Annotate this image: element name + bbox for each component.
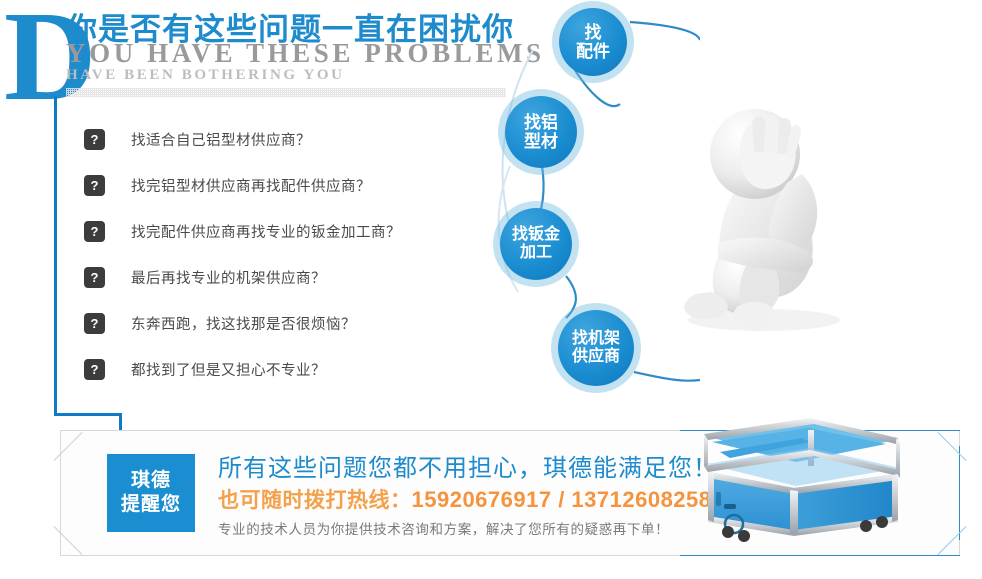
flow-node-line: 找 [585, 23, 602, 42]
drop-cap-stem [54, 96, 57, 416]
flow-node-find-aluminum-profile[interactable]: 找铝 型材 [505, 96, 577, 168]
list-item-label: 最后再找专业的机架供应商？ [131, 267, 326, 288]
cta-hotline: 也可随时拨打热线：15920676917 / 13712608258 [218, 484, 712, 514]
flow-node-line: 加工 [520, 244, 552, 262]
flow-node-find-parts[interactable]: 找 配件 [559, 8, 627, 76]
header-texture-rule [66, 88, 506, 97]
list-item: ? 找完配件供应商再找专业的钣金加工商？ [84, 220, 401, 242]
question-mark-icon: ? [84, 313, 105, 334]
flow-node-line: 找机架 [572, 330, 620, 348]
cta-subtext: 专业的技术人员为你提供技术咨询和方案，解决了您所有的疑惑再下单！ [218, 518, 669, 538]
question-mark-icon: ? [84, 221, 105, 242]
flow-node-line: 找铝 [524, 113, 558, 132]
list-item-label: 找适合自己铝型材供应商？ [131, 129, 311, 150]
list-item-label: 东奔西跑，找这找那是否很烦恼？ [131, 313, 356, 334]
list-item: ? 找适合自己铝型材供应商？ [84, 128, 401, 150]
question-mark-icon: ? [84, 359, 105, 380]
brand-badge-line2: 提醒您 [121, 493, 181, 517]
list-item: ? 都找到了但是又担心不专业？ [84, 358, 401, 380]
list-item: ? 最后再找专业的机架供应商？ [84, 266, 401, 288]
promo-banner-page: D 你是否有这些问题一直在困扰你 YOU HAVE THESE PROBLEMS… [0, 0, 982, 579]
page-title-en-line2: HAVE BEEN BOTHERING YOU [66, 67, 345, 84]
cta-headline: 所有这些问题您都不用担心，琪德能满足您！ [218, 448, 718, 483]
cta-hotline-label: 也可随时拨打热线： [218, 489, 412, 512]
cta-hotline-numbers[interactable]: 15920676917 / 13712608258 [412, 487, 712, 512]
flow-node-line: 型材 [524, 132, 558, 151]
flow-node-find-rack-supplier[interactable]: 找机架 供应商 [558, 310, 634, 386]
list-item-label: 都找到了但是又担心不专业？ [131, 359, 326, 380]
list-item-label: 找完配件供应商再找专业的钣金加工商？ [131, 221, 401, 242]
question-mark-icon: ? [84, 129, 105, 150]
question-mark-icon: ? [84, 267, 105, 288]
list-item: ? 东奔西跑，找这找那是否很烦恼？ [84, 312, 401, 334]
sad-person-3d-icon [652, 82, 882, 382]
problem-list: ? 找适合自己铝型材供应商？ ? 找完铝型材供应商再找配件供应商？ ? 找完配件… [84, 128, 401, 404]
banner-right-edge [959, 446, 960, 540]
question-mark-icon: ? [84, 175, 105, 196]
brand-badge-line1: 琪德 [131, 469, 171, 493]
brand-badge: 琪德 提醒您 [107, 454, 195, 532]
product-image-workbench [690, 408, 922, 556]
flow-node-find-sheet-metal[interactable]: 找钣金 加工 [500, 208, 572, 280]
frame-elbow-horizontal [54, 413, 122, 416]
flow-node-line: 配件 [576, 42, 610, 61]
list-item-label: 找完铝型材供应商再找配件供应商？ [131, 175, 371, 196]
flow-node-line: 供应商 [572, 348, 620, 366]
flow-node-line: 找钣金 [512, 226, 560, 244]
list-item: ? 找完铝型材供应商再找配件供应商？ [84, 174, 401, 196]
